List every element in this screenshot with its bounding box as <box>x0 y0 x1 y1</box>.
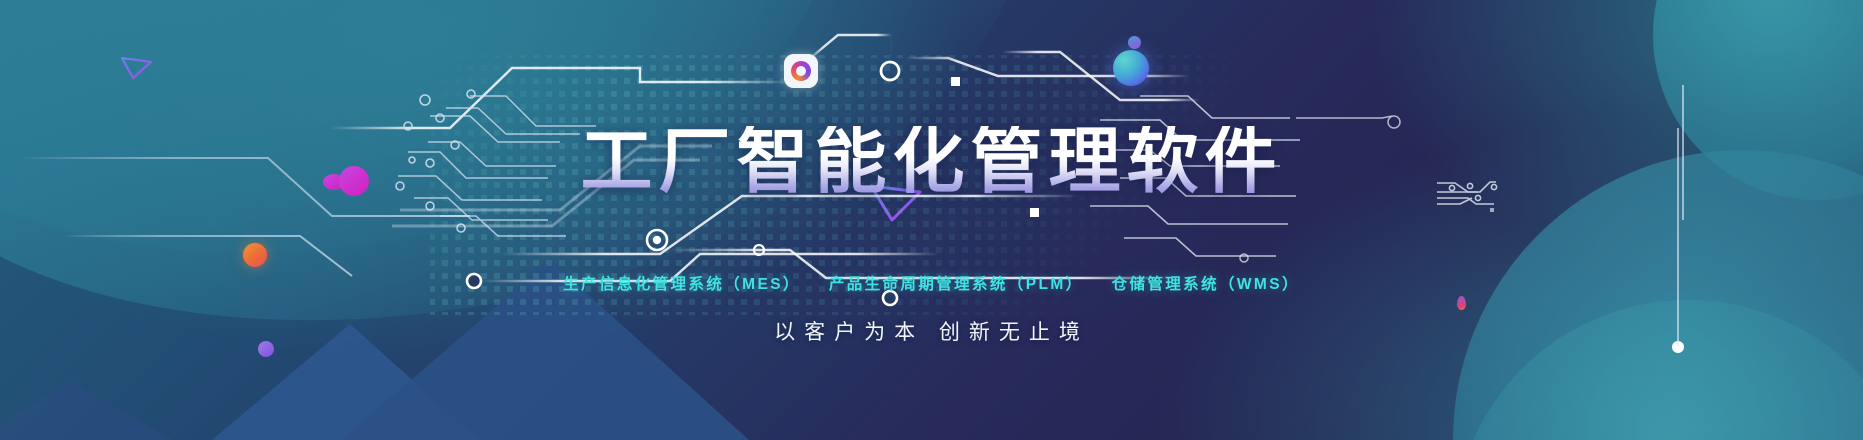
page-title: 工厂智能化管理软件 <box>0 126 1863 198</box>
gradient-sphere-icon <box>1113 50 1149 86</box>
factory-software-banner: 工厂智能化管理软件 生产信息化管理系统（MES） 产品生命周期管理系统（PLM）… <box>0 0 1863 440</box>
circuit-board-graphic <box>0 0 1863 440</box>
system-item-mes: 生产信息化管理系统（MES） <box>563 272 801 294</box>
system-item-plm: 产品生命周期管理系统（PLM） <box>829 272 1084 294</box>
system-list: 生产信息化管理系统（MES） 产品生命周期管理系统（PLM） 仓储管理系统（WM… <box>0 272 1863 294</box>
small-purple-sphere-icon <box>1128 36 1141 49</box>
circuit-chip-icon <box>784 54 818 88</box>
tagline: 以客户为本 创新无止境 <box>0 316 1863 346</box>
system-item-wms: 仓储管理系统（WMS） <box>1112 272 1300 294</box>
